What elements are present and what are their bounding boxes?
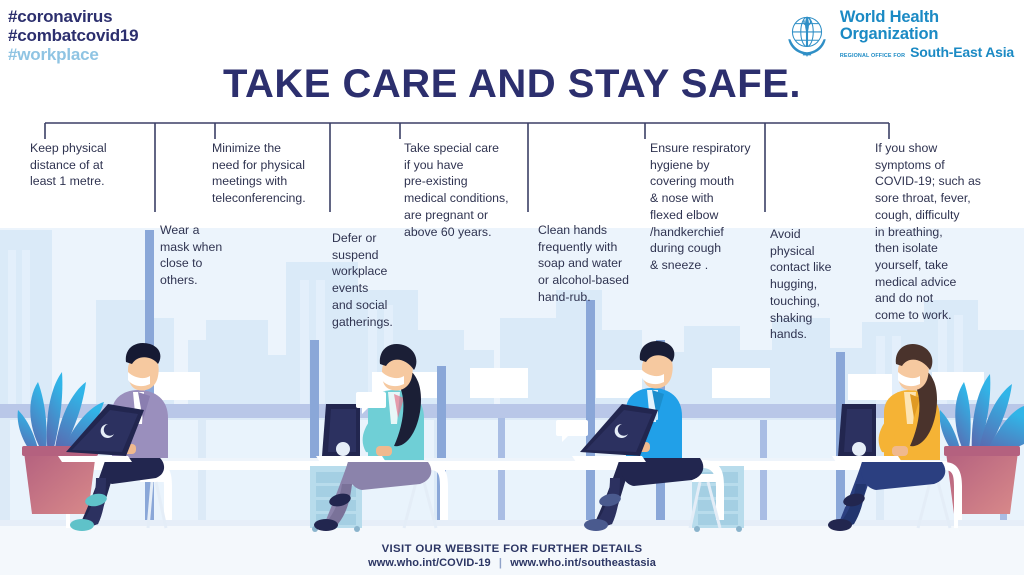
footer-links: www.who.int/COVID-19 | www.who.int/south… xyxy=(0,557,1024,569)
worker-4-shoe xyxy=(828,519,852,531)
worker-3-shoe xyxy=(584,519,608,531)
tip-wear-mask: Wear a mask when close to others. xyxy=(160,222,270,289)
footer-headline: VISIT OUR WEBSITE FOR FURTHER DETAILS xyxy=(0,543,1024,555)
worker-2-shoe xyxy=(314,519,338,531)
tip-clean-hands: Clean hands frequently with soap and wat… xyxy=(538,222,658,306)
worker-2-hand xyxy=(376,446,392,456)
hashtag-group: #coronavirus #combatcovid19 #workplace xyxy=(8,7,138,64)
who-region: South-East Asia xyxy=(910,45,1014,60)
who-line1: World Health xyxy=(840,9,1014,26)
hashtag-coronavirus: #coronavirus xyxy=(8,7,138,26)
tip-defer-events: Defer or suspend workplace events and so… xyxy=(332,230,442,330)
footer: VISIT OUR WEBSITE FOR FURTHER DETAILS ww… xyxy=(0,543,1024,569)
page-title: TAKE CARE AND STAY SAFE. xyxy=(0,62,1024,107)
worker-4-hand xyxy=(892,446,908,456)
floor-edge xyxy=(0,520,1024,526)
who-wordmark: World Health Organization REGIONAL OFFIC… xyxy=(840,9,1014,60)
who-regional-prefix: REGIONAL OFFICE FOR xyxy=(840,54,905,60)
footer-url-covid[interactable]: www.who.int/COVID-19 xyxy=(368,557,491,569)
tip-special-care: Take special care if you have pre-existi… xyxy=(404,140,544,240)
tip-physical-distance: Keep physical distance of at least 1 met… xyxy=(30,140,150,190)
tip-respiratory-hygiene: Ensure respiratory hygiene by covering m… xyxy=(650,140,775,274)
tip-avoid-contact: Avoid physical contact like hugging, tou… xyxy=(770,226,865,343)
who-logo: World Health Organization REGIONAL OFFIC… xyxy=(781,8,1014,60)
hashtag-combatcovid19: #combatcovid19 xyxy=(8,26,138,45)
tip-isolate-symptoms: If you show symptoms of COVID-19; such a… xyxy=(875,140,1005,324)
footer-separator: | xyxy=(494,557,507,569)
worker-1-shoe xyxy=(70,519,94,531)
infographic-root: #coronavirus #combatcovid19 #workplace T… xyxy=(0,0,1024,575)
who-emblem-icon xyxy=(781,8,833,60)
who-line2: Organization xyxy=(840,26,1014,43)
tip-minimize-meetings: Minimize the need for physical meetings … xyxy=(212,140,342,207)
footer-url-searo[interactable]: www.who.int/southeastasia xyxy=(510,557,656,569)
